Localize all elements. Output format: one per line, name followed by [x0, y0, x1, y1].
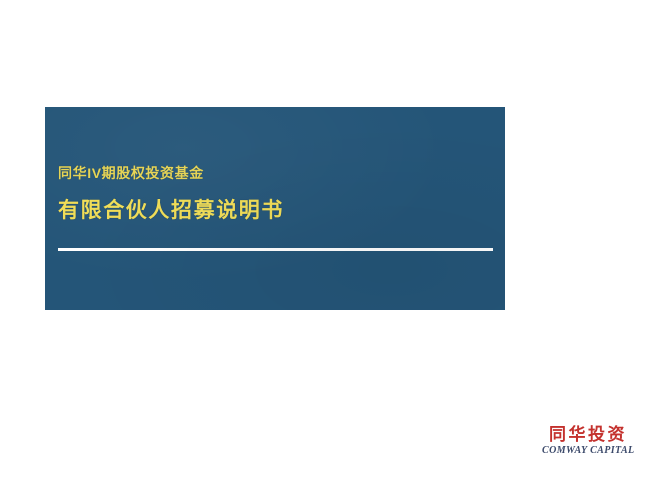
- document-title: 有限合伙人招募说明书: [58, 197, 493, 225]
- company-logo: 同华投资 COMWAY CAPITAL: [542, 425, 634, 457]
- title-text-block: 同华IV期股权投资基金 有限合伙人招募说明书: [58, 164, 493, 225]
- title-divider-rule: [58, 248, 493, 251]
- fund-name-subtitle: 同华IV期股权投资基金: [58, 164, 493, 182]
- title-panel: 同华IV期股权投资基金 有限合伙人招募说明书: [45, 107, 505, 310]
- logo-english-name: COMWAY CAPITAL: [542, 445, 634, 457]
- logo-chinese-name: 同华投资: [542, 425, 634, 444]
- presentation-slide: 同华IV期股权投资基金 有限合伙人招募说明书 同华投资 COMWAY CAPIT…: [0, 0, 670, 503]
